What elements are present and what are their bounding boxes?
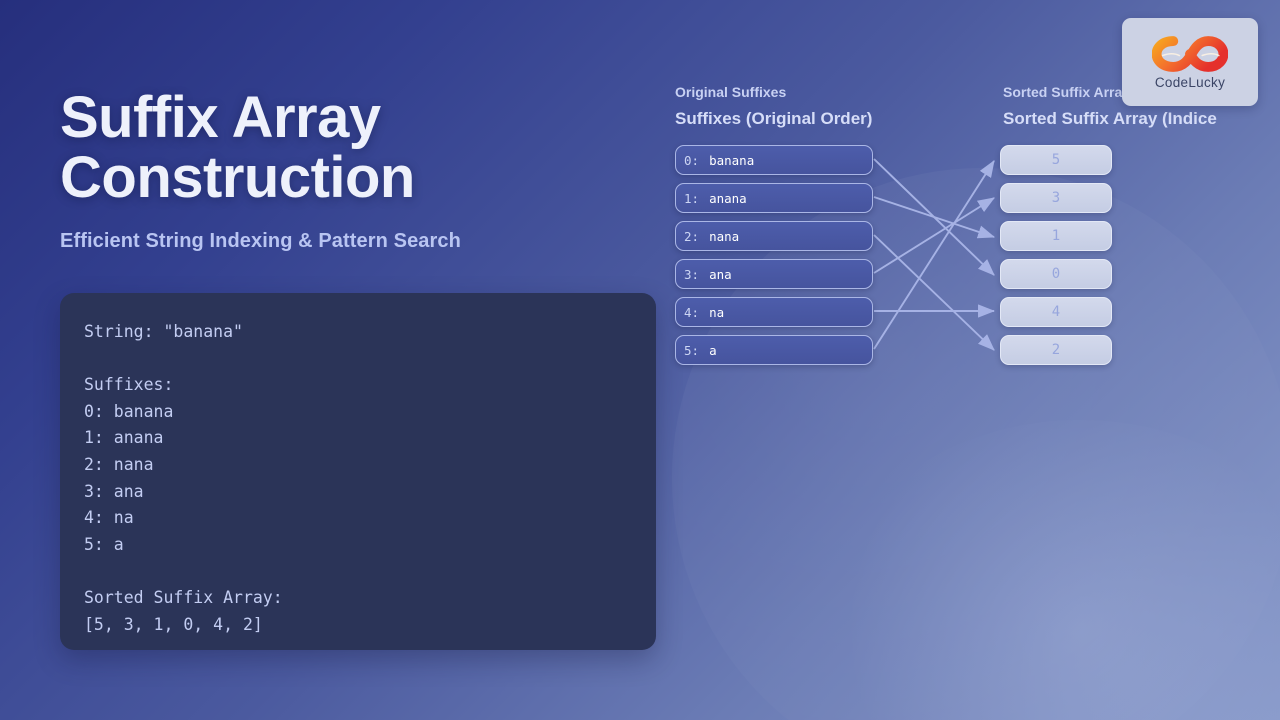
list-item[interactable]: 4 (1000, 297, 1112, 327)
list-item[interactable]: 5 (1000, 145, 1112, 175)
brand-logo-label: CodeLucky (1155, 75, 1225, 90)
suffix-index: 0: (684, 153, 699, 168)
list-item[interactable]: 1 (1000, 221, 1112, 251)
suffix-index: 3: (684, 267, 699, 282)
suffix-value: a (709, 343, 717, 358)
suffix-value: banana (709, 153, 754, 168)
list-item[interactable]: 4: na (675, 297, 873, 327)
list-item[interactable]: 2 (1000, 335, 1112, 365)
list-item[interactable]: 1: anana (675, 183, 873, 213)
infinity-leaf-icon (1152, 35, 1228, 73)
brand-logo[interactable]: CodeLucky (1122, 18, 1258, 106)
suffix-index: 4: (684, 305, 699, 320)
right-column-small-label: Sorted Suffix Array (1003, 84, 1130, 100)
list-item[interactable]: 2: nana (675, 221, 873, 251)
suffix-index: 2: (684, 229, 699, 244)
left-column-small-label: Original Suffixes (675, 84, 786, 100)
list-item[interactable]: 5: a (675, 335, 873, 365)
background-glow-decoration (820, 420, 1280, 720)
suffix-index: 5: (684, 343, 699, 358)
left-column-title: Suffixes (Original Order) (675, 109, 872, 129)
page-title: Suffix Array Construction (60, 88, 620, 209)
code-panel: String: "banana" Suffixes: 0: banana 1: … (60, 293, 656, 650)
suffix-value: anana (709, 191, 747, 206)
suffix-value: ana (709, 267, 732, 282)
list-item[interactable]: 3 (1000, 183, 1112, 213)
suffix-value: na (709, 305, 724, 320)
suffix-index: 1: (684, 191, 699, 206)
list-item[interactable]: 0: banana (675, 145, 873, 175)
suffix-value: nana (709, 229, 739, 244)
page-subtitle: Efficient String Indexing & Pattern Sear… (60, 230, 461, 253)
list-item[interactable]: 0 (1000, 259, 1112, 289)
list-item[interactable]: 3: ana (675, 259, 873, 289)
right-column-title: Sorted Suffix Array (Indice (1003, 109, 1217, 129)
